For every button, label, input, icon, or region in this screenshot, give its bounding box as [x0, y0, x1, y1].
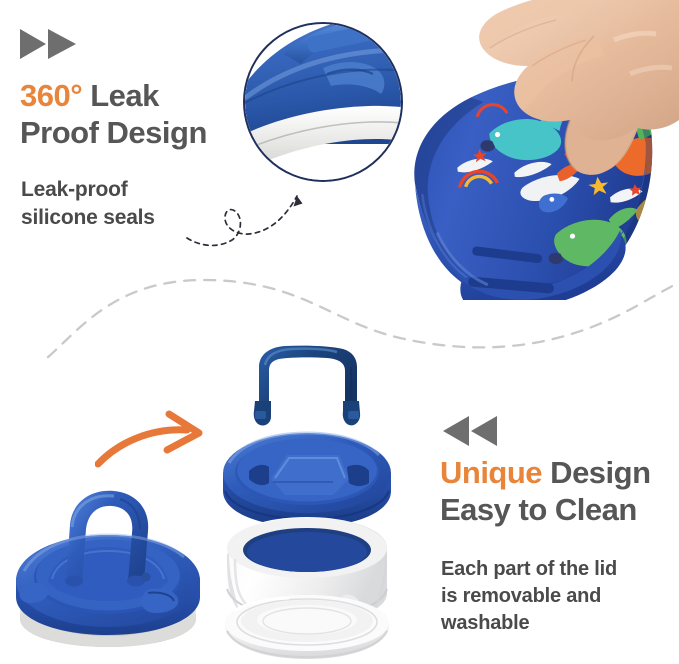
orange-curved-arrow-icon: [95, 408, 220, 480]
bottom-right-headline-line2: Easy to Clean: [440, 492, 637, 527]
top-left-headline-accent: 360°: [20, 78, 82, 113]
bottom-right-headline-rest: Design: [542, 455, 650, 490]
hand-holding-jar-photo: [398, 0, 679, 300]
bottom-right-subtext-line2: is removable and: [441, 585, 601, 607]
dashed-loop-arrow-icon: [185, 168, 315, 260]
top-left-headline-rest: Leak: [82, 78, 159, 113]
rewind-icon: [439, 414, 501, 448]
bottom-right-subtext-line3: washable: [441, 612, 529, 634]
exploded-part-handle: [254, 346, 360, 426]
exploded-part-lid-disc: [223, 433, 391, 527]
bottom-right-headline-accent: Unique: [440, 455, 542, 490]
exploded-lid-graphic: [215, 345, 400, 664]
top-left-subtext-line1: Leak-proof: [21, 178, 128, 201]
assembled-lid-graphic: [8, 485, 223, 660]
lid-seal-closeup-inset: [243, 22, 403, 182]
bottom-right-headline: Unique Design Easy to Clean: [440, 455, 679, 528]
bottom-right-subtext-line1: Each part of the lid: [441, 558, 617, 580]
top-left-headline: 360° Leak Proof Design: [20, 78, 260, 151]
exploded-part-gasket-disc: [225, 595, 389, 659]
infographic-canvas: 360° Leak Proof Design Leak-proof silico…: [0, 0, 679, 664]
top-left-headline-line2: Proof Design: [20, 115, 207, 150]
bottom-right-subtext: Each part of the lid is removable and wa…: [441, 556, 679, 637]
fast-forward-icon: [19, 27, 81, 61]
top-left-subtext-line2: silicone seals: [21, 206, 155, 229]
